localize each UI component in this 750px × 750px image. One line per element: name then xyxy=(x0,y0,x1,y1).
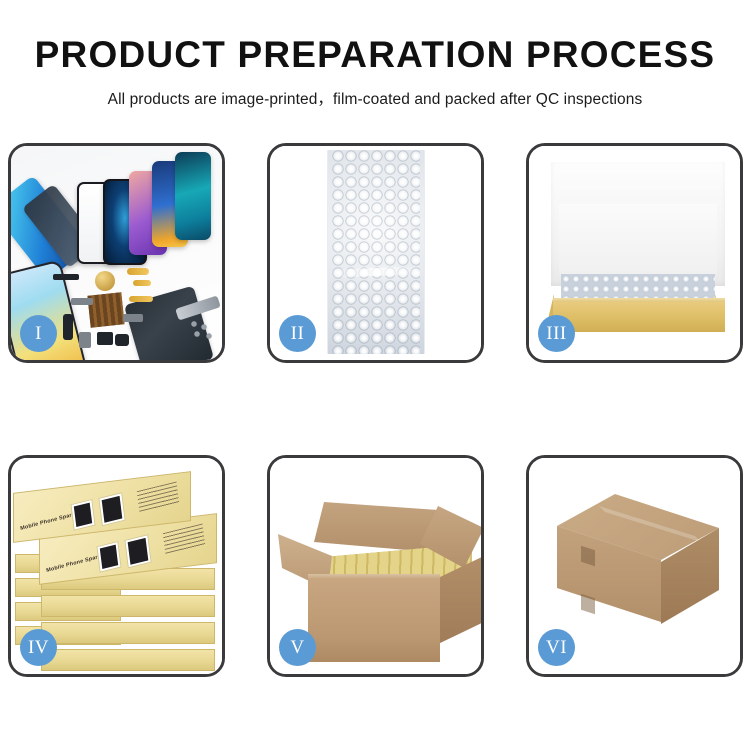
step-card-4[interactable]: Mobile Phone Spare Parts Mobile Phone Sp… xyxy=(8,455,225,677)
antenna-flex-icon xyxy=(63,314,73,340)
step-badge-2: II xyxy=(279,315,316,352)
chip-array-icon xyxy=(87,292,124,327)
teal-gradient-phone-icon xyxy=(175,152,211,240)
camera-module-icon xyxy=(97,332,113,345)
step-badge-4: IV xyxy=(20,629,57,666)
retail-box-side xyxy=(41,622,215,644)
box-spec-lines xyxy=(137,481,179,512)
flex-cable-icon xyxy=(133,280,151,286)
speaker-module-icon xyxy=(95,271,115,291)
step-card-1[interactable]: Phone LCD screens, tempered glass and sp… xyxy=(8,143,225,363)
page-title: PRODUCT PREPARATION PROCESS xyxy=(0,36,750,75)
box-artwork-thumb xyxy=(124,534,151,568)
flex-cable-icon xyxy=(127,268,149,275)
foam-insert-icon xyxy=(559,204,717,274)
retail-box-side xyxy=(41,649,215,671)
brown-carton-open-icon xyxy=(308,578,440,662)
box-artwork-thumb xyxy=(98,492,125,526)
box-spec-lines xyxy=(163,523,205,554)
step-card-2[interactable]: Item wrapped in bubble wrap pouch II xyxy=(267,143,484,363)
page-subtitle: All products are image-printed，film-coat… xyxy=(0,87,750,109)
bubble-wrap-sleeve-icon xyxy=(327,150,425,354)
sim-tray-icon xyxy=(79,332,91,348)
process-step-grid: Phone LCD screens, tempered glass and sp… xyxy=(8,143,742,677)
step-badge-3: III xyxy=(538,315,575,352)
screws-icon xyxy=(190,320,216,342)
step-badge-6: VI xyxy=(538,629,575,666)
bubble-pattern xyxy=(332,150,420,354)
volume-flex-icon xyxy=(129,296,153,302)
box-artwork-thumb xyxy=(70,499,95,531)
power-button-flex-icon xyxy=(123,314,143,322)
earpiece-mesh-icon xyxy=(53,274,79,280)
box-artwork-thumb xyxy=(96,541,121,573)
yellow-mailer-base-icon xyxy=(553,302,725,332)
retail-box-side xyxy=(41,595,215,617)
step-card-5[interactable]: Boxes loaded into outer shipping carton … xyxy=(267,455,484,677)
step-badge-5: V xyxy=(279,629,316,666)
step-card-3[interactable]: Placed into foam-lined mailer box III xyxy=(526,143,743,363)
vibrator-motor-icon xyxy=(71,298,93,305)
battery-connector-icon xyxy=(115,334,129,346)
step-card-6[interactable]: Carton sealed and ready for dispatch VI xyxy=(526,455,743,677)
page-header: PRODUCT PREPARATION PROCESS All products… xyxy=(0,0,750,109)
step-badge-1: I xyxy=(20,315,57,352)
